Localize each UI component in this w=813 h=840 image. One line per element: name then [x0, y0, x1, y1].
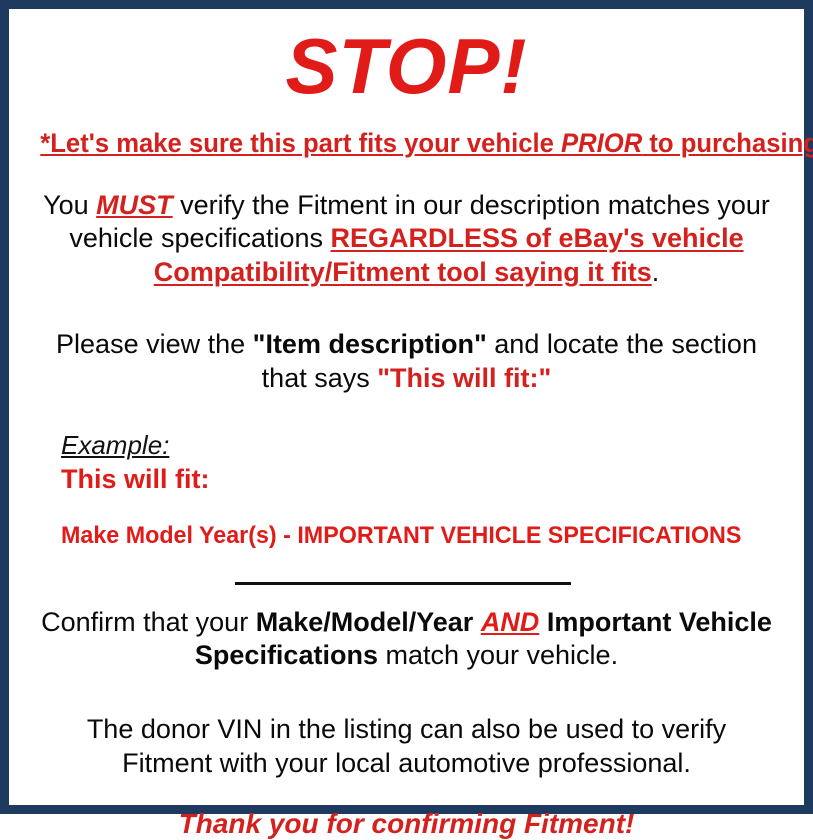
example-block: Example: This will fit: Make Model Year(… [21, 431, 792, 549]
fitment-notice-frame: STOP! *Let's make sure this part fits yo… [0, 0, 813, 814]
subtitle-part-2: to purchasing* [642, 128, 813, 158]
example-fit-header: This will fit: [61, 463, 792, 495]
subtitle-emphasis-prior: PRIOR [561, 128, 642, 158]
paragraph-item-description: Please view the "Item description" and l… [21, 328, 792, 396]
item-description-quote: "Item description" [253, 329, 487, 359]
example-label: Example: [61, 431, 792, 461]
and-emphasis: AND [481, 607, 540, 637]
thank-you-message: Thank you for confirming Fitment! [21, 807, 792, 840]
paragraph-donor-vin: The donor VIN in the listing can also be… [21, 713, 792, 781]
confirm-space-2 [539, 607, 547, 637]
description-lead-text: Please view the [56, 329, 253, 359]
stop-headline: STOP! [21, 19, 792, 105]
subtitle-banner: *Let's make sure this part fits your veh… [40, 129, 772, 159]
separator-wrapper [21, 576, 792, 590]
paragraph-confirm: Confirm that your Make/Model/Year AND Im… [21, 606, 792, 674]
paragraph-must-verify: You MUST verify the Fitment in our descr… [21, 189, 792, 290]
example-spec-line: Make Model Year(s) - IMPORTANT VEHICLE S… [61, 522, 770, 550]
confirm-tail-text: match your vehicle. [378, 640, 618, 670]
this-will-fit-quote: "This will fit:" [377, 363, 551, 393]
notice-content: STOP! *Let's make sure this part fits yo… [9, 19, 804, 815]
subtitle-part-1: *Let's make sure this part fits your veh… [40, 128, 561, 158]
must-emphasis: MUST [96, 190, 173, 220]
must-lead-text: You [43, 190, 96, 220]
confirm-lead-text: Confirm that your [41, 607, 256, 637]
horizontal-divider [235, 582, 571, 585]
make-model-year-emphasis: Make/Model/Year [256, 607, 474, 637]
must-tail-text: . [652, 257, 660, 287]
confirm-space-1 [473, 607, 481, 637]
